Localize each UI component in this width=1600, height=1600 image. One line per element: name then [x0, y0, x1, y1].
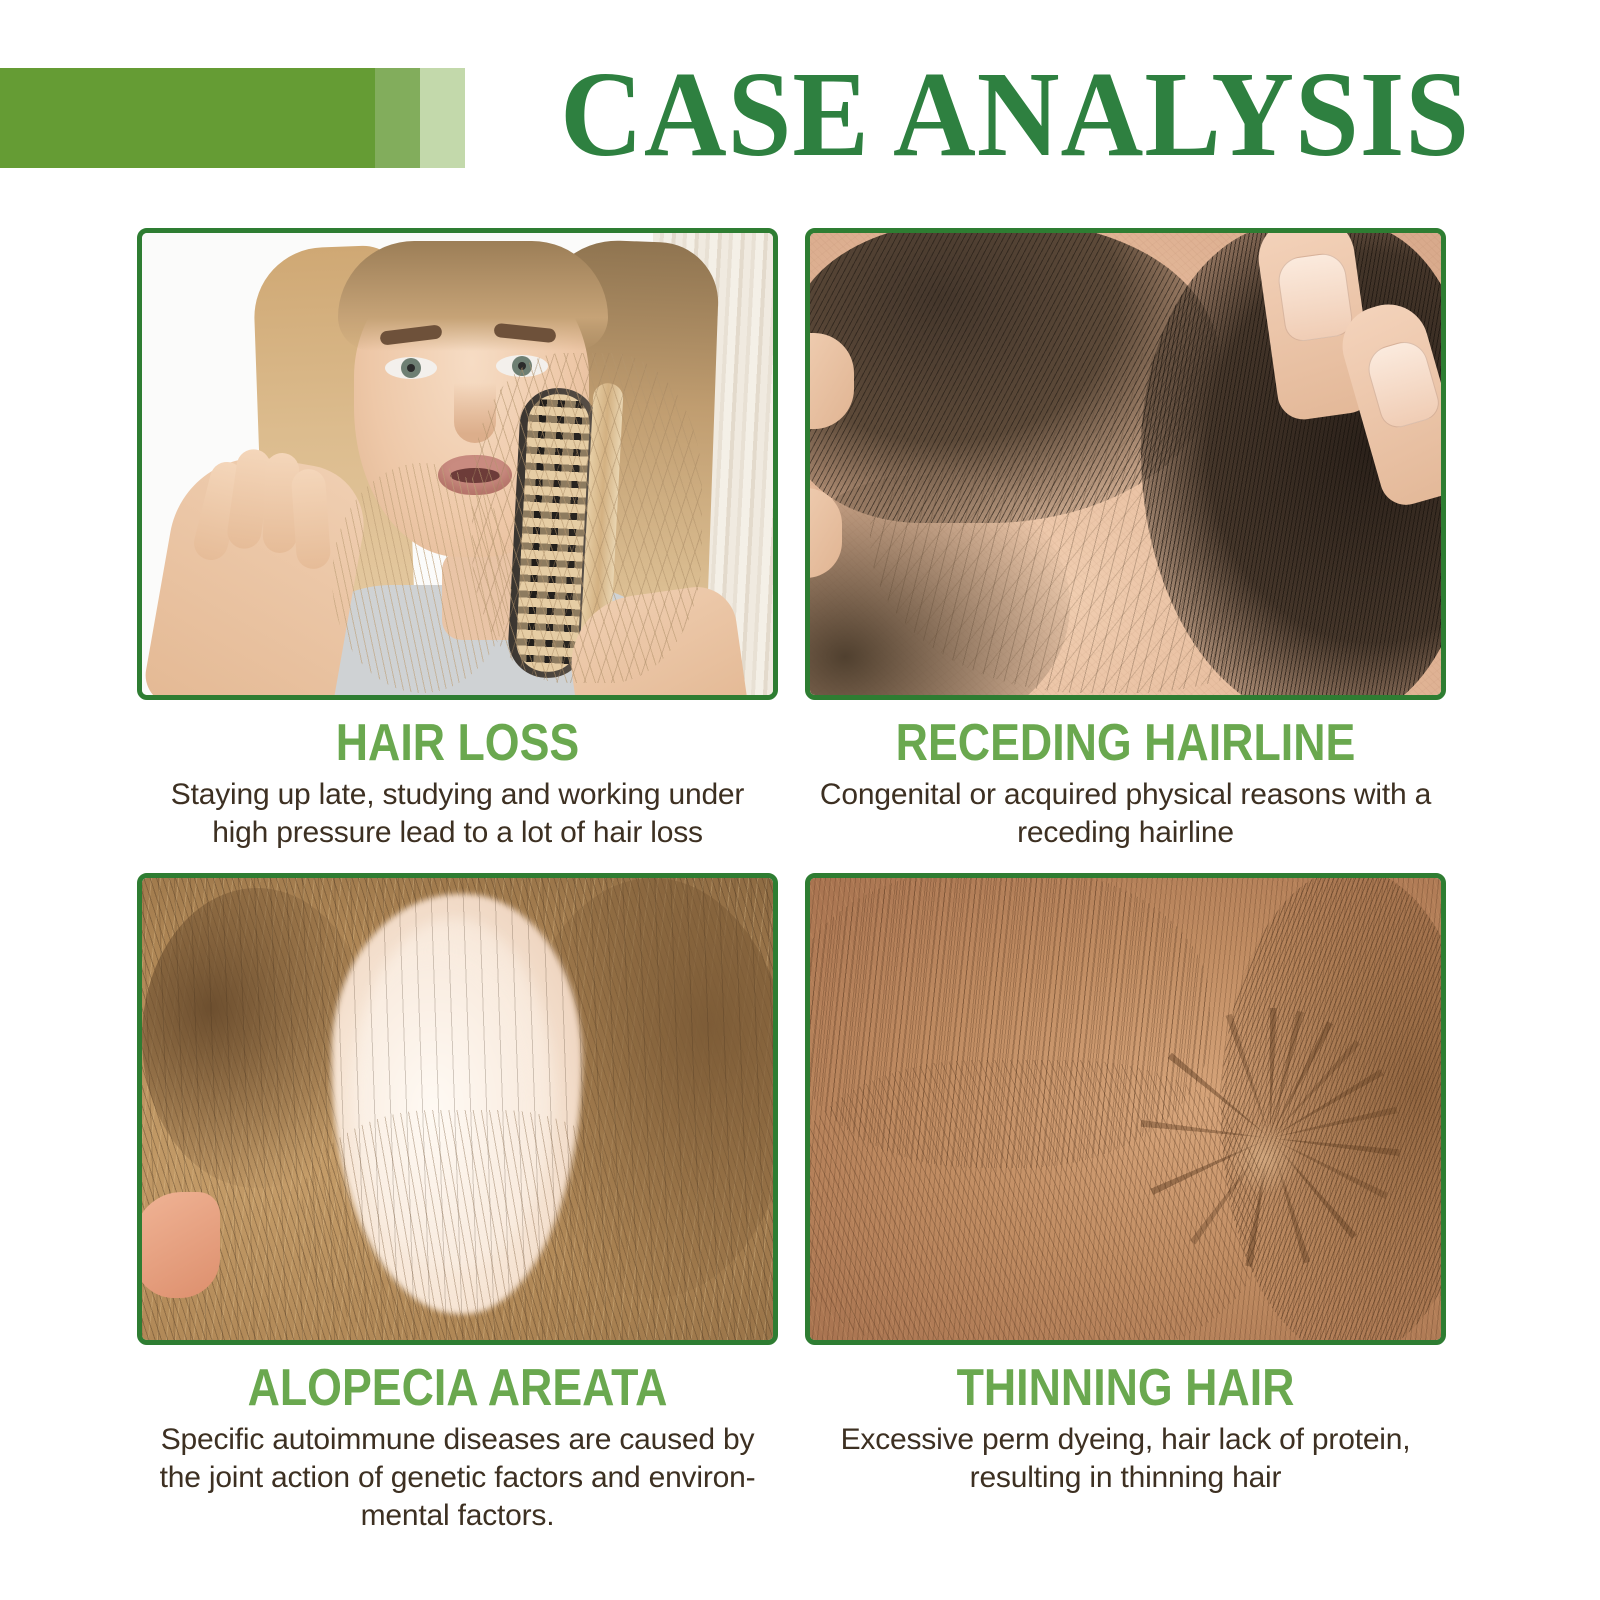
iris-left	[401, 358, 421, 378]
photo-frame-thinning-hair	[805, 873, 1446, 1345]
page-title: CASE ANALYSIS	[539, 54, 1470, 176]
photo-alopecia-areata	[142, 878, 773, 1340]
loose-hair-strands	[472, 353, 702, 683]
photo-frame-receding-hairline	[805, 228, 1446, 700]
case-card-thinning-hair[interactable]: THINNING HAIR Excessive perm dyeing, hai…	[805, 873, 1446, 1497]
header-bar-segment-medium	[375, 68, 420, 168]
header-bar-segment-dark	[0, 68, 375, 168]
header-bar-segment-light	[420, 68, 465, 168]
photo-frame-alopecia-areata	[137, 873, 778, 1345]
photo-hair-loss	[142, 233, 773, 695]
header: CASE ANALYSIS	[0, 68, 1600, 168]
photo-thinning-hair	[810, 878, 1441, 1340]
fingernail-one	[1275, 251, 1354, 344]
hair-mass-right	[1221, 878, 1441, 1340]
card-caption-hair-loss: Staying up late, studying and working un…	[137, 776, 778, 852]
hair-top	[338, 241, 608, 351]
case-card-receding-hairline[interactable]: RECEDING HAIRLINE Congenital or acquired…	[805, 228, 1446, 852]
card-caption-receding-hairline: Congenital or acquired physical reasons …	[805, 776, 1446, 852]
hair-sweep-bottom	[810, 1060, 1260, 1340]
case-card-alopecia-areata[interactable]: ALOPECIA AREATA Specific autoimmune dise…	[137, 873, 778, 1535]
eye-left	[385, 357, 437, 379]
hair-strand-pulled	[332, 463, 512, 693]
photo-receding-hairline	[810, 233, 1441, 695]
card-caption-thinning-hair: Excessive perm dyeing, hair lack of prot…	[805, 1421, 1446, 1497]
ear	[142, 1192, 220, 1298]
card-title-alopecia-areata: ALOPECIA AREATA	[182, 1359, 733, 1417]
hair-wisps-bottom	[302, 1110, 632, 1340]
card-title-thinning-hair: THINNING HAIR	[850, 1359, 1401, 1417]
case-analysis-infographic: CASE ANALYSIS	[0, 0, 1600, 1600]
fingers-left	[202, 443, 332, 563]
photo-frame-hair-loss	[137, 228, 778, 700]
card-title-hair-loss: HAIR LOSS	[182, 714, 733, 772]
case-card-hair-loss[interactable]: HAIR LOSS Staying up late, studying and …	[137, 228, 778, 852]
card-caption-alopecia-areata: Specific autoimmune diseases are caused …	[137, 1421, 778, 1535]
card-title-receding-hairline: RECEDING HAIRLINE	[850, 714, 1401, 772]
